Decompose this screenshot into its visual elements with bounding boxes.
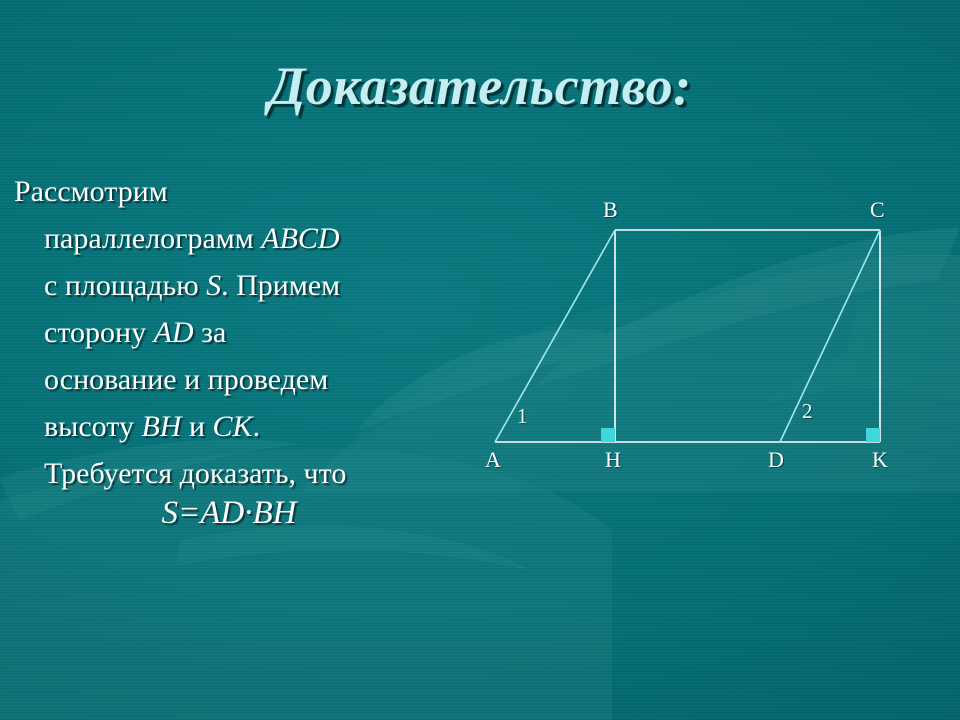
vertex-label-b: B (603, 197, 618, 223)
right-angle-marker-k (866, 428, 880, 442)
vertex-label-c: C (870, 197, 885, 223)
angle-label-1: 1 (517, 404, 528, 429)
text-line-1: Рассмотрим (14, 168, 444, 215)
geometry-figure: B C A H D K 1 2 (460, 185, 960, 485)
vertex-label-h: H (605, 447, 621, 473)
page-title: Доказательство: (0, 55, 960, 117)
text-line-3: с площадью S. Примем (14, 262, 444, 309)
text-line-4: сторону AD за (14, 309, 444, 356)
vertex-label-a: A (485, 447, 501, 473)
proof-text-block: Рассмотрим параллелограмм ABCD с площадь… (14, 168, 444, 497)
angle-label-2: 2 (802, 399, 813, 424)
area-formula: S=AD·BH (14, 495, 444, 532)
slide: Доказательство: Рассмотрим параллелограм… (0, 0, 960, 720)
right-angle-marker-h (601, 428, 615, 442)
text-line-6: высоту BH и CK. (14, 403, 444, 450)
side-ab (495, 230, 615, 442)
vertex-label-k: K (872, 447, 888, 473)
side-dc (780, 230, 880, 442)
text-line-5: основание и проведем (14, 356, 444, 403)
text-line-2: параллелограмм ABCD (14, 215, 444, 262)
text-line-7: Требуется доказать, что (14, 450, 444, 497)
vertex-label-d: D (768, 447, 784, 473)
